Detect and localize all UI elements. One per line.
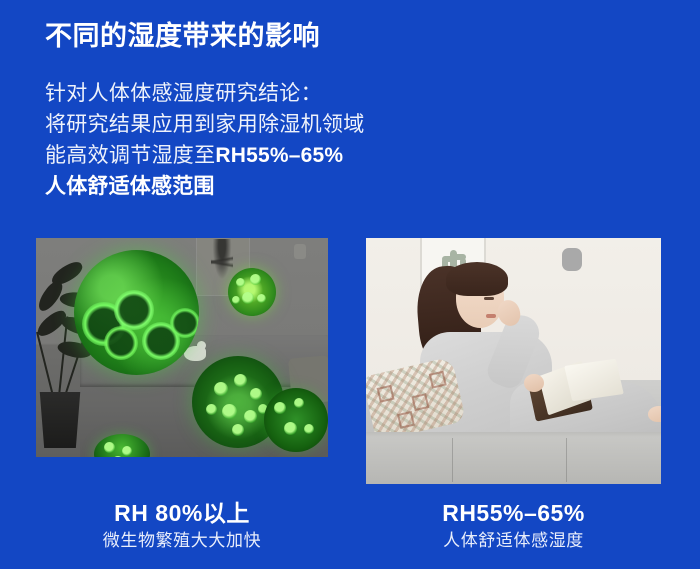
caption-left-title: RH 80%以上 [36,498,328,528]
body-line-3: 能高效调节湿度至RH55%–65% [45,140,465,171]
plant-pot-dark [38,392,82,448]
microbe-sphere-large [74,250,199,375]
caption-comfort-humidity: RH55%–65% 人体舒适体感湿度 [366,498,661,553]
caption-right-subtitle: 人体舒适体感湿度 [366,528,661,553]
photo-panel-comfort-humidity [366,238,661,484]
woman-reading [412,256,642,456]
foot [648,406,661,422]
photo-panel-high-humidity [36,238,328,457]
body-line-3-highlight: RH55%–65% [215,144,343,167]
humidity-infographic-poster: 不同的湿度带来的影响 针对人体体感湿度研究结论： 将研究结果应用到家用除湿机领域… [0,0,700,569]
microbe-sphere-bottom-right [264,388,328,452]
hand-holding-book [524,374,544,392]
caption-right-title: RH55%–65% [366,498,661,528]
body-line-4: 人体舒适体感范围 [45,171,465,202]
caption-high-humidity: RH 80%以上 微生物繁殖大大加快 [36,498,328,553]
body-copy-block: 针对人体体感湿度研究结论： 将研究结果应用到家用除湿机领域 能高效调节湿度至RH… [45,78,465,202]
bright-room-scene [366,238,661,484]
wall-knob-dark [294,244,306,259]
microbe-sphere-small-top [228,268,276,316]
dim-room-scene [36,238,328,457]
body-line-2: 将研究结果应用到家用除湿机领域 [45,109,465,140]
book-page-right [564,359,624,401]
hair-top [446,262,508,296]
caption-left-subtitle: 微生物繁殖大大加快 [36,528,328,553]
body-line-1: 针对人体体感湿度研究结论： [45,78,465,109]
sofa-seat-light [366,432,661,484]
page-title: 不同的湿度带来的影响 [45,17,320,55]
body-line-3-normal: 能高效调节湿度至 [45,144,215,167]
